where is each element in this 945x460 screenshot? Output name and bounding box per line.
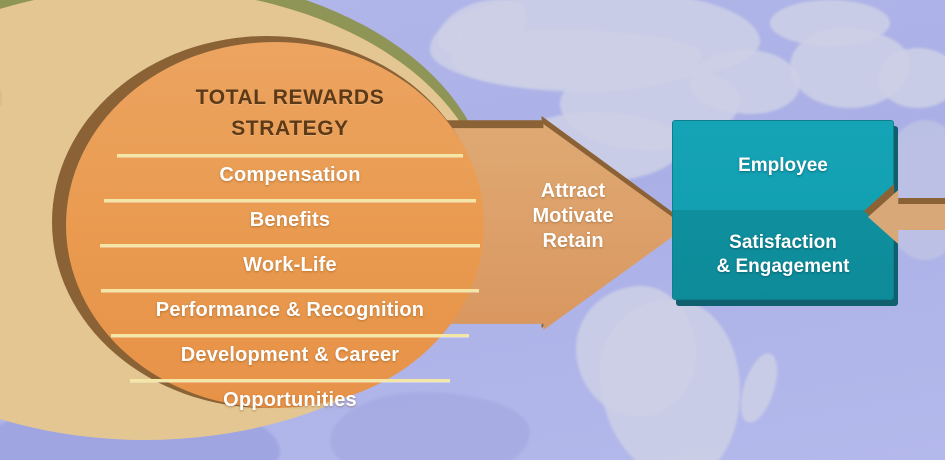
attract-arrow-label: Attract Motivate Retain xyxy=(498,179,648,254)
outcome-satisfaction-line-1: Satisfaction xyxy=(716,231,849,255)
outcome-box-bottom: Satisfaction & Engagement xyxy=(673,210,893,299)
cropped-label-top: nal xyxy=(0,88,1,110)
map-landmass-north-asia xyxy=(770,0,890,46)
map-landmass-southern-africa xyxy=(600,300,740,460)
arrow-label-line-2: Motivate xyxy=(498,204,648,229)
outcome-satisfaction-label: Satisfaction & Engagement xyxy=(716,231,849,279)
strategy-ellipse xyxy=(66,42,484,408)
outcome-box-top: Employee xyxy=(673,121,893,210)
arrow-label-line-1: Attract xyxy=(498,179,648,204)
slide-canvas: nal e TOTAL REWARDS STRATEGY Compensatio… xyxy=(0,0,945,460)
arrow-label-line-3: Retain xyxy=(498,229,648,254)
outcome-box: Employee Satisfaction & Engagement xyxy=(672,120,894,300)
outcome-satisfaction-line-2: & Engagement xyxy=(716,255,849,279)
outcome-employee-label: Employee xyxy=(738,154,828,178)
